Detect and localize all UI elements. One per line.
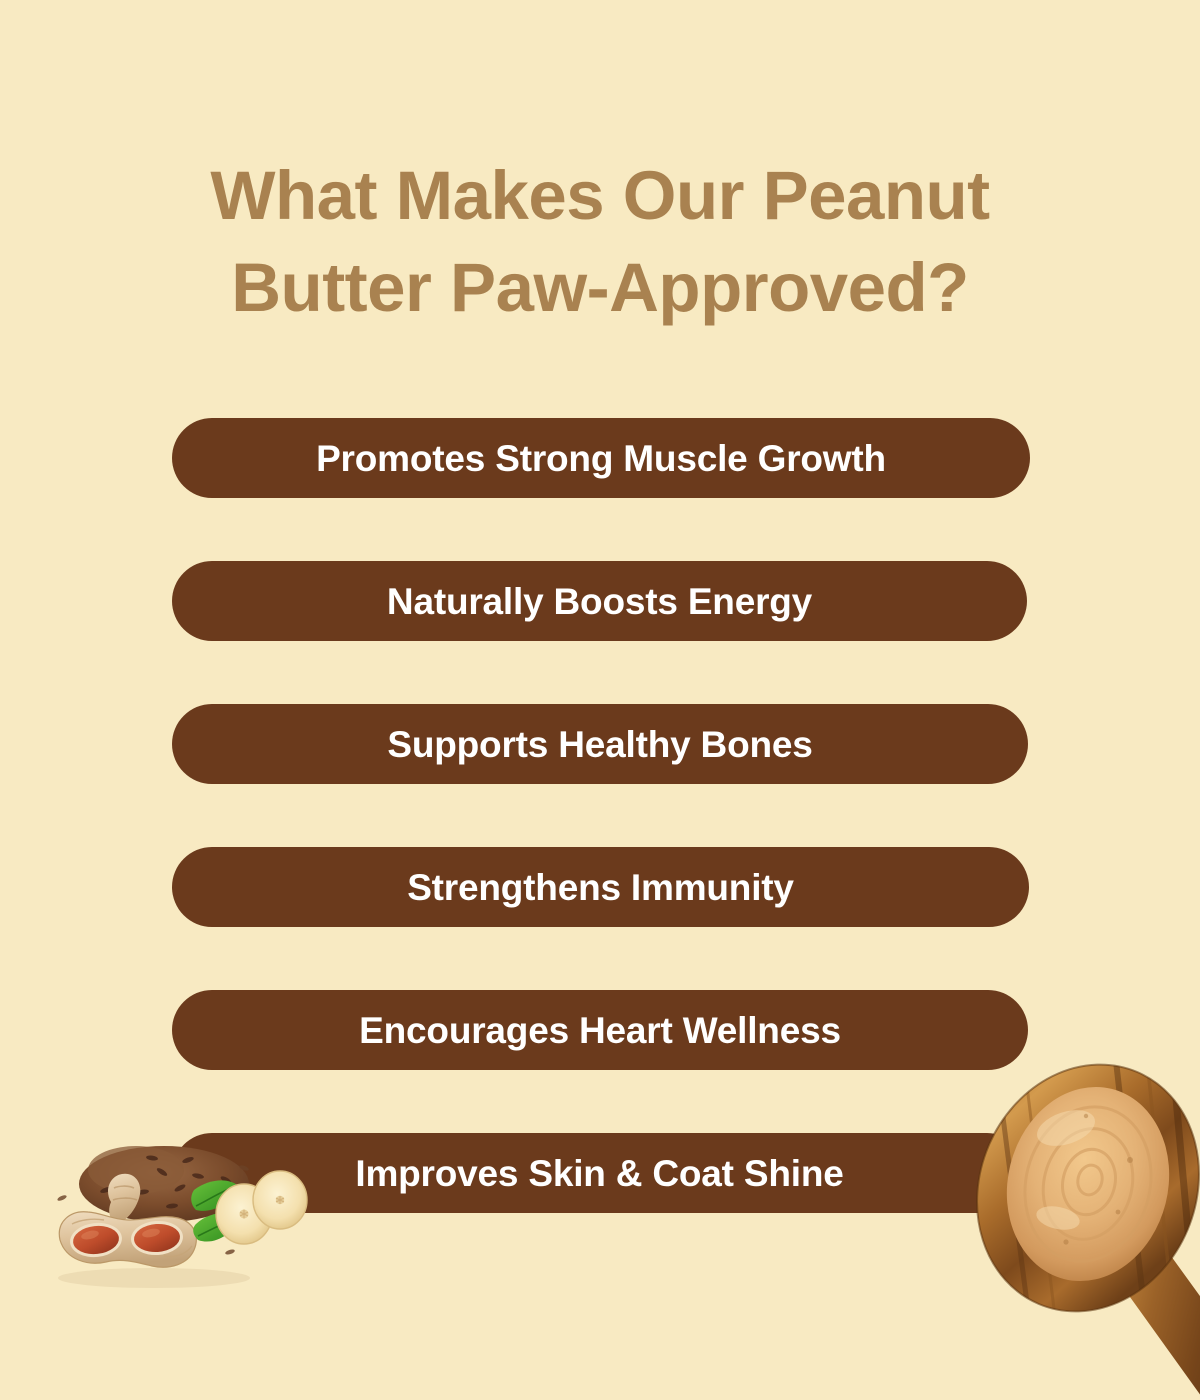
benefit-label: Supports Healthy Bones	[387, 726, 812, 763]
benefit-label: Encourages Heart Wellness	[359, 1012, 841, 1049]
benefit-pill-3[interactable]: Supports Healthy Bones	[172, 704, 1028, 784]
peanut-open-with-kernels	[59, 1212, 196, 1267]
benefit-pill-2[interactable]: Naturally Boosts Energy	[172, 561, 1027, 641]
page-title-line-1: What Makes Our Peanut	[0, 150, 1200, 242]
benefit-pill-6[interactable]: Improves Skin & Coat Shine	[172, 1133, 1027, 1213]
page-title: What Makes Our Peanut Butter Paw-Approve…	[0, 150, 1200, 334]
benefit-pill-1[interactable]: Promotes Strong Muscle Growth	[172, 418, 1030, 498]
poster-canvas: What Makes Our Peanut Butter Paw-Approve…	[0, 0, 1200, 1400]
benefit-label: Naturally Boosts Energy	[387, 583, 812, 620]
benefit-pill-4[interactable]: Strengthens Immunity	[172, 847, 1029, 927]
benefit-label: Promotes Strong Muscle Growth	[316, 440, 886, 477]
spoon-handle	[1112, 1238, 1200, 1400]
benefit-pill-5[interactable]: Encourages Heart Wellness	[172, 990, 1028, 1070]
benefits-list: Promotes Strong Muscle Growth Naturally …	[172, 418, 1032, 1213]
benefit-label: Strengthens Immunity	[407, 869, 794, 906]
peanut-shell-whole	[108, 1174, 140, 1223]
page-title-line-2: Butter Paw-Approved?	[0, 242, 1200, 334]
benefit-label: Improves Skin & Coat Shine	[355, 1155, 843, 1192]
